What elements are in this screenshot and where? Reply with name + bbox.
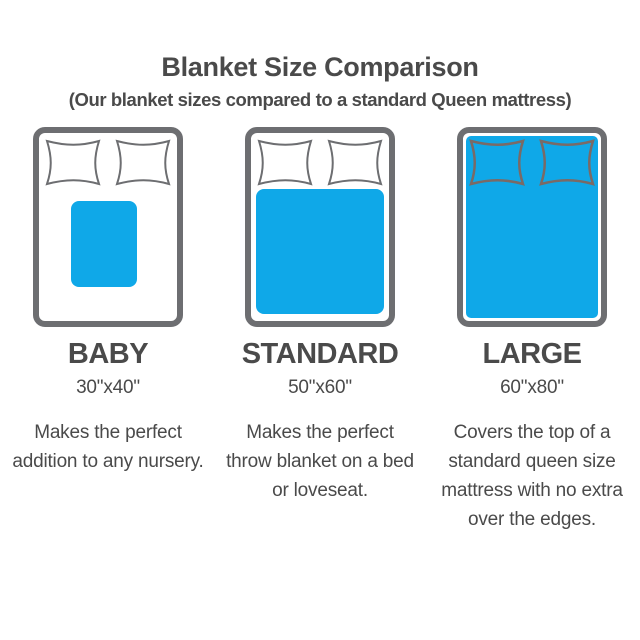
size-column-baby: BABY 30"x40" Makes the perfect addition … (2, 127, 214, 477)
pillow-right (117, 141, 169, 184)
pillow-right (329, 141, 381, 184)
size-column-standard: STANDARD 50"x60" Makes the perfect throw… (214, 127, 426, 506)
size-description-baby: Makes the perfect addition to any nurser… (10, 419, 206, 477)
bed-top-view-icon (33, 127, 183, 327)
blanket-size-comparison-infographic: Blanket Size Comparison (Our blanket siz… (0, 0, 640, 640)
page-title: Blanket Size Comparison (0, 52, 640, 83)
pillow-left (259, 141, 311, 184)
bed-diagram-standard (245, 127, 395, 327)
blanket-baby (71, 201, 137, 287)
bed-diagram-large (457, 127, 607, 327)
size-description-standard: Makes the perfect throw blanket on a bed… (222, 419, 418, 506)
size-column-large: LARGE 60"x80" Covers the top of a standa… (426, 127, 638, 535)
size-dimensions-baby: 30"x40" (76, 378, 140, 397)
size-name-standard: STANDARD (242, 340, 399, 369)
size-dimensions-standard: 50"x60" (288, 378, 352, 397)
size-name-baby: BABY (68, 340, 148, 369)
blanket-large (466, 136, 598, 318)
bed-top-view-icon (457, 127, 607, 327)
size-dimensions-large: 60"x80" (500, 378, 564, 397)
blanket-standard (256, 189, 384, 314)
size-columns: BABY 30"x40" Makes the perfect addition … (0, 127, 640, 535)
size-name-large: LARGE (483, 340, 582, 369)
size-description-large: Covers the top of a standard queen size … (434, 419, 630, 535)
bed-top-view-icon (245, 127, 395, 327)
bed-diagram-baby (33, 127, 183, 327)
page-subtitle: (Our blanket sizes compared to a standar… (0, 89, 640, 111)
header: Blanket Size Comparison (Our blanket siz… (0, 0, 640, 111)
pillow-left (47, 141, 99, 184)
